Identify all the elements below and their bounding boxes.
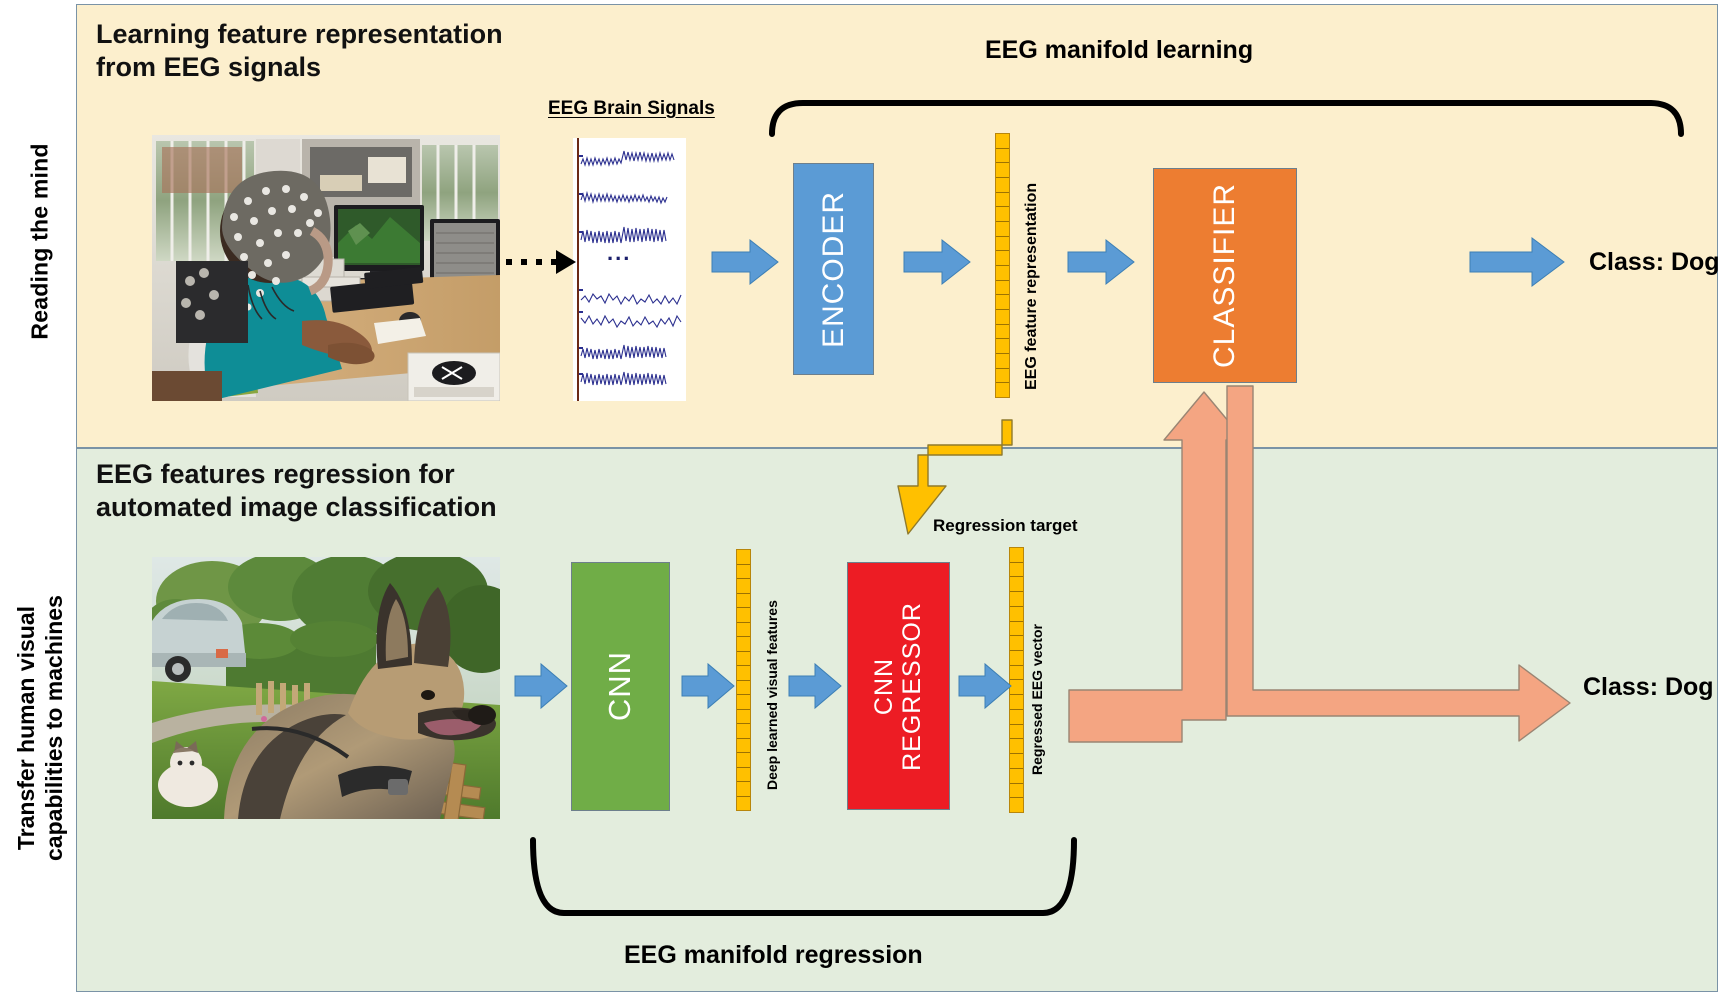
cnn-regressor-label: CNN REGRESSOR (871, 602, 926, 771)
classifier-label: CLASSIFIER (1209, 183, 1242, 368)
output-class-dog-bottom: Class: Dog (1583, 673, 1714, 702)
classifier-block: CLASSIFIER (1153, 168, 1297, 383)
cnn-regressor-block: CNN REGRESSOR (847, 562, 950, 810)
encoder-block: ENCODER (793, 163, 874, 375)
label-deep-learned-visual-features: Deep learned visual features (764, 600, 780, 790)
encoder-label: ENCODER (817, 190, 850, 347)
output-class-dog-top: Class: Dog (1589, 248, 1720, 277)
dog-illustration (152, 557, 500, 819)
label-eeg-feature-representation: EEG feature representation (1023, 183, 1041, 390)
eeg-brain-signals-plot (573, 138, 686, 401)
cnn-block: CNN (571, 562, 670, 811)
photo-dog (152, 557, 500, 819)
label-regressed-eeg-vector: Regressed EEG vector (1029, 624, 1045, 775)
eeg-subject-illustration (152, 135, 500, 401)
eeg-waveforms (573, 138, 686, 401)
label-regression-target: Regression target (933, 516, 1078, 536)
eeg-plot-axis (577, 138, 579, 401)
side-label-transfer-capabilities: Transfer human visual capabilities to ma… (12, 528, 68, 928)
heading-eeg-features-regression: EEG features regression for automated im… (96, 458, 616, 524)
side-label-reading-the-mind: Reading the mind (27, 52, 54, 432)
photo-eeg-subject (152, 135, 500, 401)
label-eeg-manifold-learning: EEG manifold learning (985, 36, 1253, 65)
cnn-label: CNN (603, 651, 637, 721)
label-eeg-brain-signals: EEG Brain Signals (548, 98, 715, 120)
deep-visual-feature-vector (736, 549, 751, 811)
figure-canvas: Reading the mind Transfer human visual c… (0, 0, 1724, 999)
eeg-signal-ellipsis: ... (607, 240, 631, 266)
heading-learning-feature-representation: Learning feature representation from EEG… (96, 18, 616, 84)
eeg-feature-vector (995, 133, 1010, 398)
label-eeg-manifold-regression: EEG manifold regression (624, 941, 923, 970)
regressed-eeg-vector (1009, 547, 1024, 813)
